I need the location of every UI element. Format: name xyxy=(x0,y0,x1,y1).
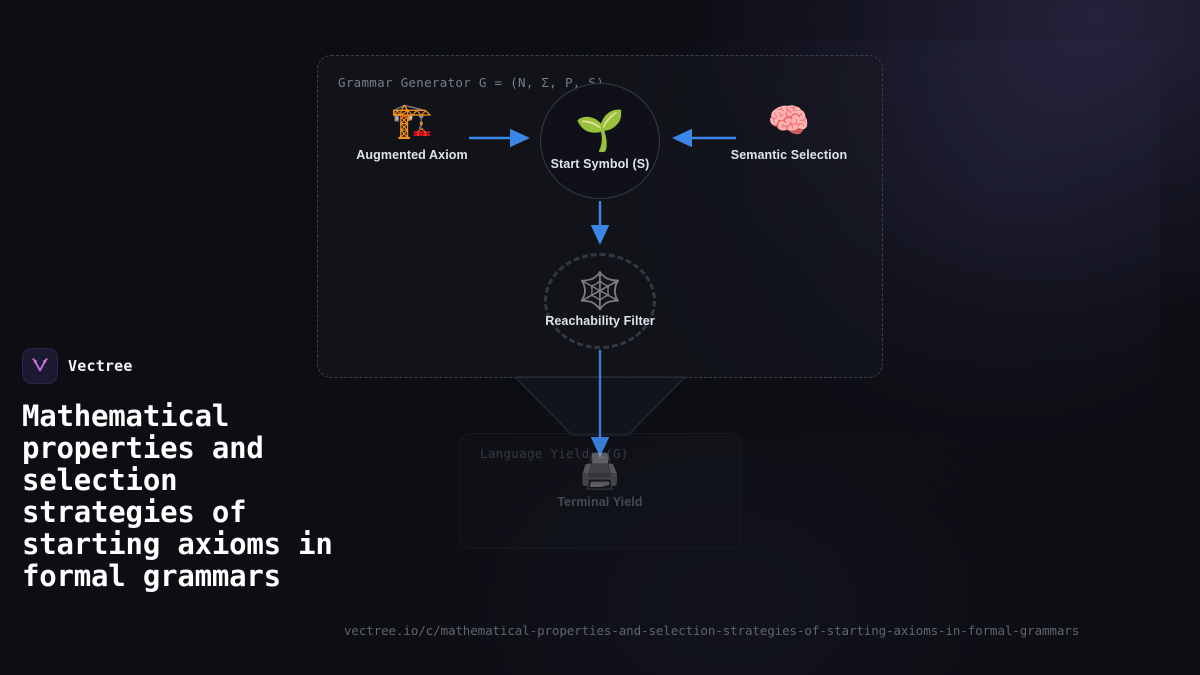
brand-row[interactable]: Vectree xyxy=(22,348,352,384)
spider-web-icon: 🕸️ xyxy=(578,274,623,310)
funnel-shape xyxy=(515,376,685,436)
node-terminal-yield[interactable]: 🖨️ Terminal Yield xyxy=(540,455,660,509)
page-title: Mathematical properties and selection st… xyxy=(22,400,352,592)
node-augmented-axiom[interactable]: 🏗️ Augmented Axiom xyxy=(352,104,472,162)
panel-grammar-generator-label: Grammar Generator G = (N, Σ, P, S) xyxy=(338,75,604,90)
vectree-v-logo-icon xyxy=(22,348,58,384)
node-start-symbol[interactable]: 🌱 Start Symbol (S) xyxy=(540,83,660,199)
brain-icon: 🧠 xyxy=(768,104,810,138)
node-reachability-filter[interactable]: 🕸️ Reachability Filter xyxy=(544,253,656,349)
node-semantic-selection[interactable]: 🧠 Semantic Selection xyxy=(728,104,850,162)
node-start-symbol-label: Start Symbol (S) xyxy=(551,157,650,171)
branding-block: Vectree Mathematical properties and sele… xyxy=(22,348,352,592)
node-augmented-axiom-label: Augmented Axiom xyxy=(356,148,467,162)
printer-icon: 🖨️ xyxy=(579,455,621,489)
construction-crane-icon: 🏗️ xyxy=(391,104,433,138)
node-terminal-yield-label: Terminal Yield xyxy=(557,495,642,509)
seedling-icon: 🌱 xyxy=(575,111,625,151)
brand-name: Vectree xyxy=(68,357,133,375)
node-semantic-selection-label: Semantic Selection xyxy=(731,148,847,162)
node-reachability-filter-label: Reachability Filter xyxy=(545,314,655,328)
footer-url: vectree.io/c/mathematical-properties-and… xyxy=(344,623,1079,638)
